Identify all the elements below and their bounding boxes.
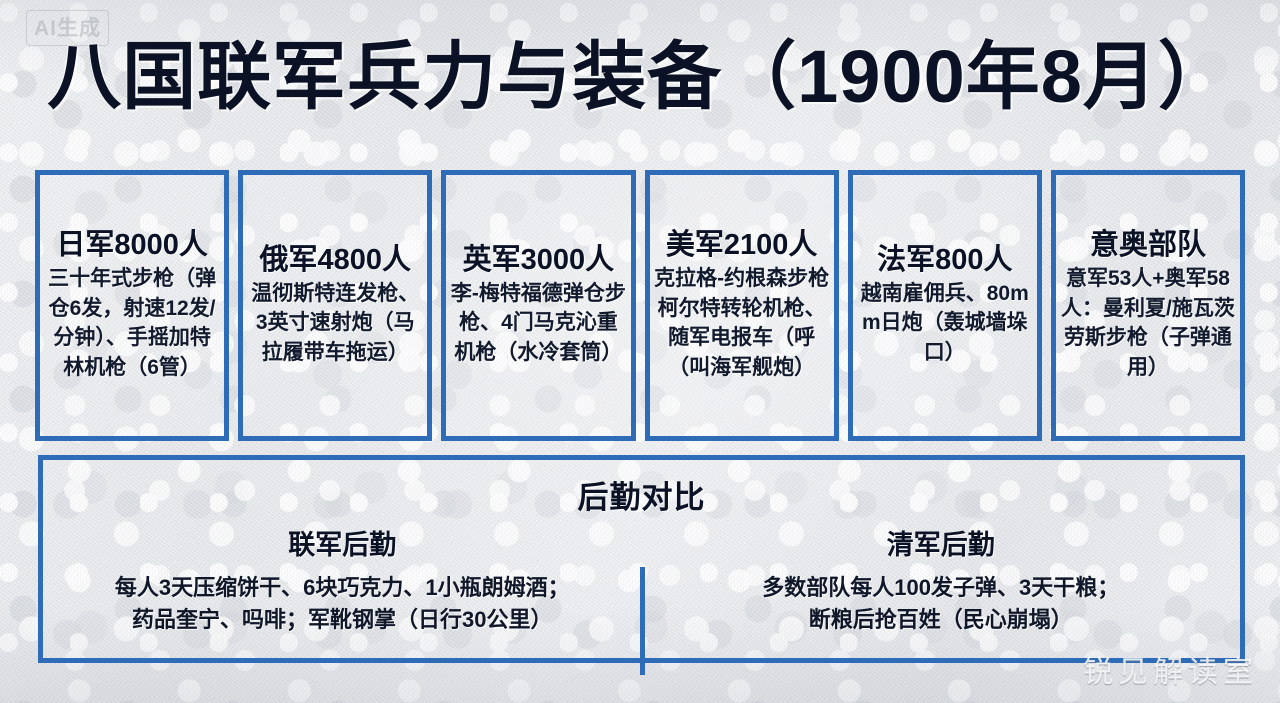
army-card-title: 法军800人 xyxy=(877,244,1012,277)
logistics-comparison-panel: 后勤对比 联军后勤 每人3天压缩饼干、6块巧克力、1小瓶朗姆酒； 药品奎宁、吗啡… xyxy=(38,455,1245,663)
channel-watermark: 锐见解读室 xyxy=(1083,647,1258,691)
logistics-allied-heading: 联军后勤 xyxy=(57,523,628,562)
logistics-qing-heading: 清军后勤 xyxy=(656,523,1227,562)
logistics-allied-line-1: 每人3天压缩饼干、6块巧克力、1小瓶朗姆酒； xyxy=(57,572,628,604)
army-card-title: 意奥部队 xyxy=(1090,229,1206,262)
army-card-body: 李-梅特福德弹仓步枪、4门马克沁重机枪（水冷套筒） xyxy=(450,279,626,367)
logistics-column-qing: 清军后勤 多数部队每人100发子弹、3天干粮； 断粮后抢百姓（民心崩塌） xyxy=(642,523,1241,636)
army-card-britain: 英军3000人 李-梅特福德弹仓步枪、4门马克沁重机枪（水冷套筒） xyxy=(441,170,635,441)
army-card-japan: 日军8000人 三十年式步枪（弹仓6发，射速12发/分钟）、手摇加特林机枪（6管… xyxy=(35,170,229,441)
logistics-column-allied: 联军后勤 每人3天压缩饼干、6块巧克力、1小瓶朗姆酒； 药品奎宁、吗啡；军靴钢掌… xyxy=(43,523,642,636)
army-card-usa: 美军2100人 克拉格-约根森步枪柯尔特转轮机枪、随军电报车（呼（叫海军舰炮） xyxy=(645,170,839,441)
army-card-title: 美军2100人 xyxy=(666,229,818,262)
army-card-russia: 俄军4800人 温彻斯特连发枪、3英寸速射炮（马拉履带车拖运） xyxy=(238,170,432,441)
logistics-qing-line-1: 多数部队每人100发子弹、3天干粮； xyxy=(656,572,1227,604)
army-card-france: 法军800人 越南雇佣兵、80mm日炮（轰城墙垛口） xyxy=(848,170,1042,441)
army-card-body: 三十年式步枪（弹仓6发，射速12发/分钟）、手摇加特林机枪（6管） xyxy=(44,264,220,382)
army-card-title: 英军3000人 xyxy=(463,244,615,277)
army-card-title: 俄军4800人 xyxy=(260,244,412,277)
army-card-italy-austria: 意奥部队 意军53人+奥军58人：曼利夏/施瓦茨劳斯步枪（子弹通用） xyxy=(1051,170,1245,441)
logistics-panel-title: 后勤对比 xyxy=(43,472,1240,517)
army-card-row: 日军8000人 三十年式步枪（弹仓6发，射速12发/分钟）、手摇加特林机枪（6管… xyxy=(35,170,1245,441)
army-card-body: 温彻斯特连发枪、3英寸速射炮（马拉履带车拖运） xyxy=(247,279,423,367)
logistics-allied-line-2: 药品奎宁、吗啡；军靴钢掌（日行30公里） xyxy=(57,604,628,636)
army-card-title: 日军8000人 xyxy=(56,229,208,262)
army-card-body: 意军53人+奥军58人：曼利夏/施瓦茨劳斯步枪（子弹通用） xyxy=(1060,264,1236,382)
logistics-column-divider xyxy=(640,567,645,675)
page-title: 八国联军兵力与装备（1900年8月） xyxy=(0,40,1280,114)
army-card-body: 越南雇佣兵、80mm日炮（轰城墙垛口） xyxy=(857,279,1033,367)
army-card-body: 克拉格-约根森步枪柯尔特转轮机枪、随军电报车（呼（叫海军舰炮） xyxy=(654,264,830,382)
logistics-qing-line-2: 断粮后抢百姓（民心崩塌） xyxy=(656,604,1227,636)
infographic-canvas: AI生成 八国联军兵力与装备（1900年8月） 日军8000人 三十年式步枪（弹… xyxy=(0,0,1280,703)
logistics-columns: 联军后勤 每人3天压缩饼干、6块巧克力、1小瓶朗姆酒； 药品奎宁、吗啡；军靴钢掌… xyxy=(43,523,1240,636)
